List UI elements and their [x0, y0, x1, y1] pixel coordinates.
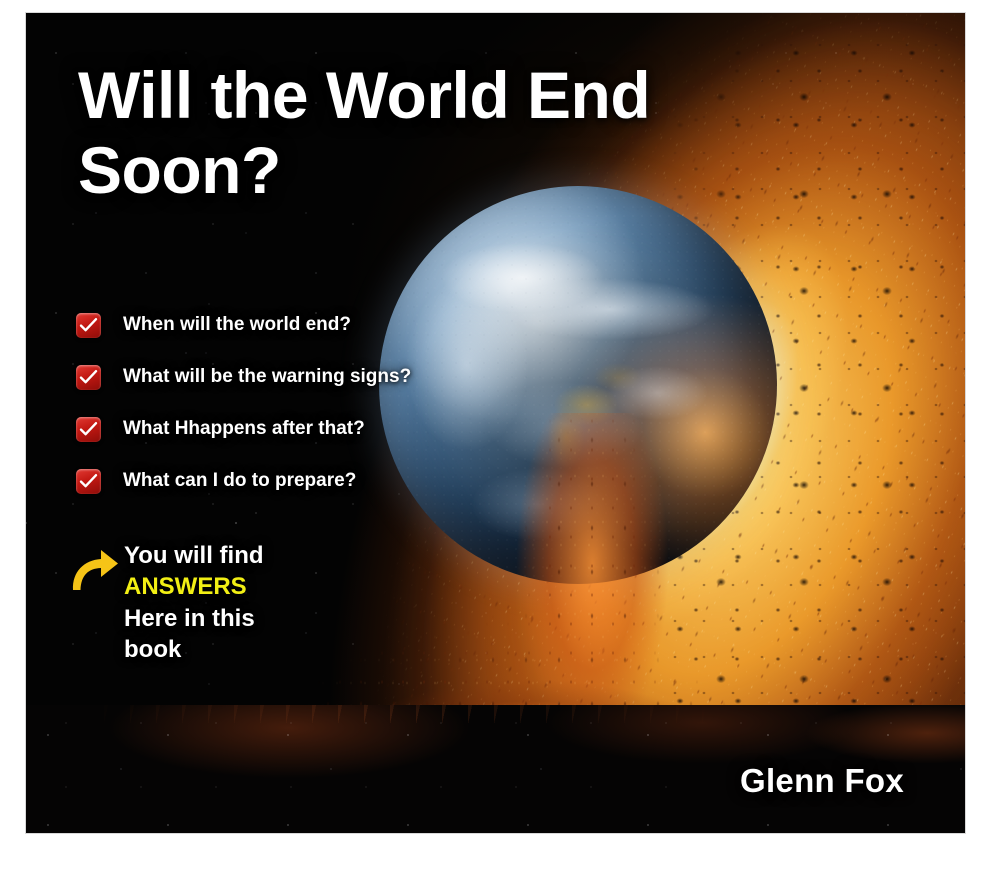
check-icon	[76, 313, 101, 338]
checklist-item-label: When will the world end?	[123, 314, 351, 336]
checklist-item-label: What will be the warning signs?	[123, 366, 411, 388]
promo-text: You will find ANSWERS Here in this book	[124, 540, 264, 666]
checklist-item-label: What can I do to prepare?	[123, 470, 356, 492]
page-canvas: Will the World End Soon? When will the w…	[0, 0, 994, 890]
author-name: Glenn Fox	[740, 762, 904, 800]
promo-block: You will find ANSWERS Here in this book	[70, 540, 264, 666]
check-icon	[76, 469, 101, 494]
checklist-item: What Hhappens after that?	[76, 403, 496, 455]
checklist-item: What can I do to prepare?	[76, 455, 496, 507]
checklist-item-label: What Hhappens after that?	[123, 418, 365, 440]
checklist-item: What will be the warning signs?	[76, 351, 496, 403]
promo-line-2-highlight: ANSWERS	[124, 573, 247, 600]
cover-title: Will the World End Soon?	[78, 58, 778, 207]
checklist: When will the world end? What will be th…	[76, 299, 496, 507]
check-icon	[76, 417, 101, 442]
promo-line-1: You will find	[124, 542, 264, 569]
promo-line-3: Here in this	[124, 605, 255, 632]
curved-arrow-right-icon	[70, 546, 120, 599]
checklist-item: When will the world end?	[76, 299, 496, 351]
book-cover: Will the World End Soon? When will the w…	[26, 13, 965, 833]
promo-line-4: book	[124, 636, 181, 663]
check-icon	[76, 365, 101, 390]
